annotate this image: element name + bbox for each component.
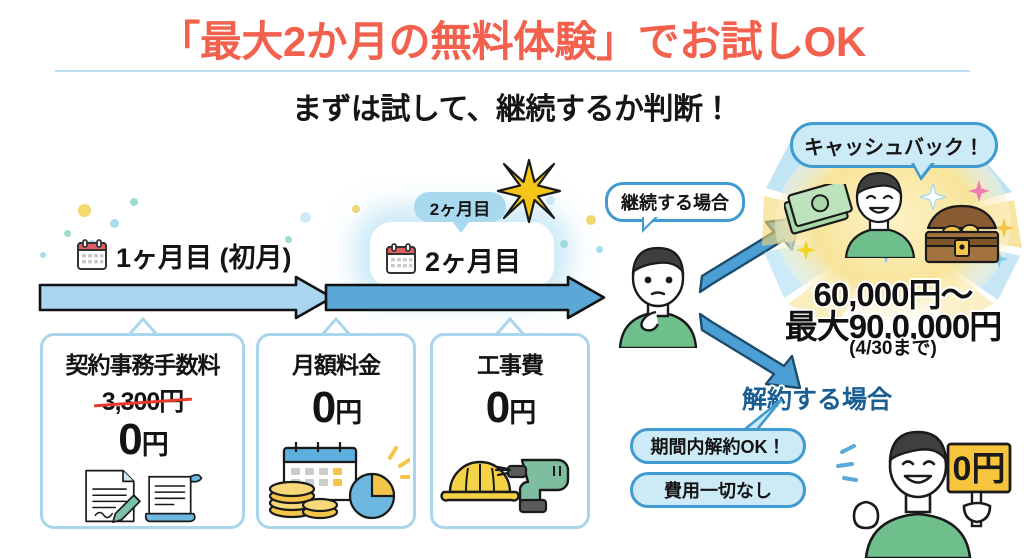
timeline-arrow-month2 xyxy=(324,275,606,320)
price-card-struck-price: 3,300円 xyxy=(102,382,184,418)
confetti-dot xyxy=(110,219,119,228)
month-1-text: 1ヶ月目 (初月) xyxy=(116,236,292,275)
banknotes-icon xyxy=(784,184,854,244)
confetti-dot xyxy=(560,240,568,248)
month-2-label: 2ヶ月目 xyxy=(384,240,521,279)
coins-calendar-piechart-icon xyxy=(262,434,410,520)
card-connector-tab xyxy=(493,316,527,336)
confetti-dot xyxy=(40,252,46,258)
cancel-badge-text: 費用一切なし xyxy=(664,477,772,503)
month-2-badge-text: 2ヶ月目 xyxy=(430,195,490,220)
price-unit: 円 xyxy=(335,400,360,427)
card-connector-tab xyxy=(126,316,160,336)
price-card-title: 工事費 xyxy=(477,346,543,380)
calendar-icon xyxy=(384,243,418,276)
svg-text:0円: 0円 xyxy=(953,450,1006,488)
price-unit: 円 xyxy=(142,432,167,459)
contract-document-pen-icon xyxy=(59,466,227,526)
cashback-panel: キャッシュバック！ 60,000円〜 最大90,0,000円 (4/30まで) xyxy=(762,122,1024,350)
helmet-drill-icon xyxy=(436,434,584,514)
price-card-construction-fee: 工事費 0 円 xyxy=(430,333,590,529)
infographic-root: 「最大2か月の無料体験」でお試しOK まずは試して、継続するか判断！ 1ヶ月目 … xyxy=(0,0,1024,559)
month-1-label: 1ヶ月目 (初月) xyxy=(75,236,292,275)
price-card-price: 0 円 xyxy=(312,386,360,430)
cancel-badge-text: 期間内解約OK！ xyxy=(651,433,786,459)
header-divider xyxy=(55,70,970,72)
confetti-dot xyxy=(78,204,91,217)
confetti-dot xyxy=(64,230,71,237)
cancel-badge-in-period: 期間内解約OK！ xyxy=(630,428,806,464)
price-number: 0 xyxy=(118,418,140,462)
price-card-monthly-fee: 月額料金 0 円 xyxy=(256,333,416,529)
calendar-icon xyxy=(75,239,109,272)
price-card-price: 0 円 xyxy=(486,386,534,430)
month-2-text: 2ヶ月目 xyxy=(425,240,521,279)
confetti-dot xyxy=(596,246,603,253)
page-headline: 「最大2か月の無料体験」でお試しOK xyxy=(0,8,1024,69)
cancel-badge-no-fee: 費用一切なし xyxy=(630,472,806,508)
timeline-arrow-month1 xyxy=(38,275,334,320)
sparkle-icon xyxy=(968,180,990,202)
cashback-note: (4/30まで) xyxy=(762,333,1024,360)
cashback-bubble: キャッシュバック！ xyxy=(790,122,998,168)
price-card-title: 契約事務手数料 xyxy=(66,346,220,380)
cashback-bubble-text: キャッシュバック！ xyxy=(804,131,984,160)
confetti-dot xyxy=(352,205,360,213)
continue-case-text: 継続する場合 xyxy=(621,189,729,215)
confetti-dot xyxy=(586,215,596,225)
confetti-dot xyxy=(130,198,138,206)
card-connector-tab xyxy=(319,316,353,336)
price-card-title: 月額料金 xyxy=(292,346,380,380)
price-card-price: 0 円 xyxy=(118,418,166,462)
person-holding-zero-yen-sign-icon: 0円 xyxy=(832,418,1012,558)
price-unit: 円 xyxy=(509,400,534,427)
price-card-contract-fee: 契約事務手数料 3,300円 0 円 xyxy=(40,333,245,529)
star-burst-icon xyxy=(496,158,562,224)
price-number: 0 xyxy=(312,386,334,430)
price-number: 0 xyxy=(486,386,508,430)
month-2-badge: 2ヶ月目 xyxy=(414,192,506,222)
confetti-dot xyxy=(300,212,311,223)
treasure-chest-icon xyxy=(922,200,1002,268)
